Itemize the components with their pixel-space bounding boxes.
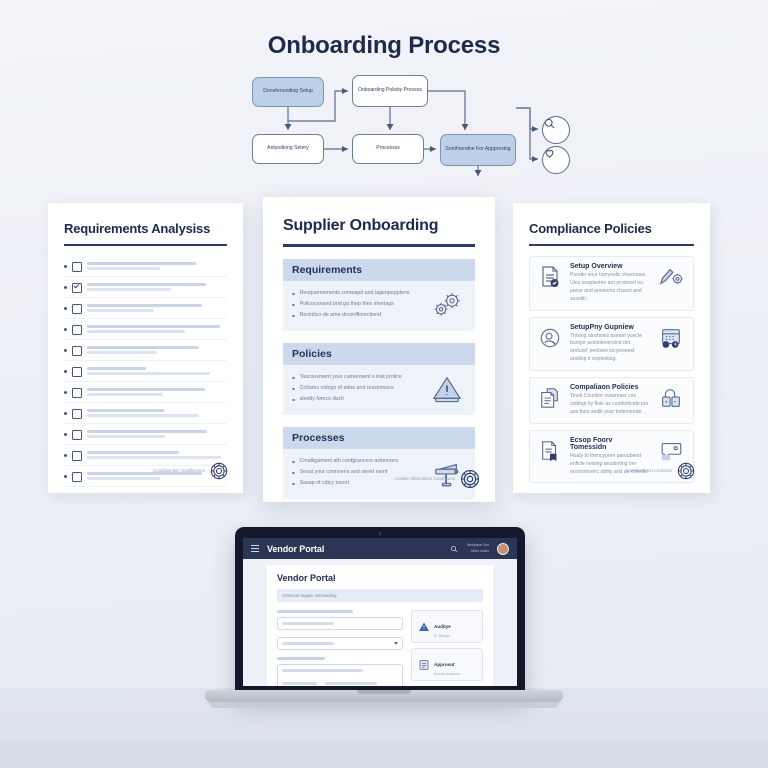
checkbox-icon[interactable]: [72, 346, 82, 356]
section-item: Recintico de ame drconfflorectiend: [292, 312, 422, 319]
section-policies-title: Policies: [283, 343, 475, 365]
section-policies: Policies Tascouvment your camerment s in…: [283, 343, 475, 415]
field-label: [277, 610, 353, 613]
bullet-icon: [292, 461, 295, 464]
user-role: Mia's suobs: [471, 549, 489, 553]
bullet-icon: [292, 377, 295, 380]
checkbox-icon[interactable]: [72, 409, 82, 419]
laptop-screen: Vendor Portal Vinofiuson Sos Mia's suobs…: [243, 538, 517, 686]
entry-desc: Ponder sour tionyoulic cheemase. Uins se…: [570, 272, 649, 304]
portal-page: Vendor Portal Velmocet Suppie onbioardin…: [267, 565, 493, 686]
checkbox-icon[interactable]: [72, 367, 82, 377]
section-item: aledity fornco duch: [292, 396, 422, 403]
checkbox-icon[interactable]: [72, 388, 82, 398]
flow-node-2-label: Onboarding Polisity Process: [358, 87, 422, 95]
field-label: [277, 657, 325, 660]
select-input[interactable]: [277, 637, 403, 650]
bullet-icon: [292, 388, 295, 391]
bullet-icon: [292, 315, 295, 318]
checklist-row[interactable]: [64, 361, 227, 382]
checklist-row[interactable]: [64, 403, 227, 424]
page-title: Onboarding Process: [0, 32, 768, 60]
gear-seal-icon: [209, 461, 229, 481]
bullet-icon: [64, 328, 67, 331]
compliance-entry-list: Setup Overview Ponder sour tionyoulic ch…: [529, 256, 694, 483]
side-card-subtitle: 0+ Bfcelys: [434, 634, 451, 638]
bullet-icon: [64, 454, 67, 457]
documents-copy-icon: [537, 384, 563, 412]
bullet-icon: [64, 286, 67, 289]
hamburger-icon[interactable]: [251, 545, 259, 552]
seal-caption: Coantbonnton Leobsion: [625, 468, 672, 475]
textarea-input[interactable]: [277, 664, 403, 686]
avatar[interactable]: [497, 543, 509, 555]
right-card-rule: [529, 244, 694, 246]
entry-title: SetupPny Gupniew: [570, 324, 649, 331]
section-item: Tascouvment your camerment s inat prolic…: [292, 374, 422, 381]
bullet-icon: [64, 475, 67, 478]
entry-title: Compaliaon Policies: [570, 384, 649, 391]
checklist-row[interactable]: [64, 256, 227, 277]
chevron-down-icon: [394, 642, 398, 645]
center-card-rule: [283, 244, 475, 247]
flow-node-1[interactable]: Donehrounding Setup: [252, 77, 324, 107]
list-item[interactable]: SetupPny Gupniew Thising alcotionis asea…: [529, 317, 694, 372]
approval-doc-icon: [417, 658, 430, 671]
center-card-heading: Supplier Onboarding: [283, 217, 475, 235]
certification-seal: Condtitioniton Soalifinones: [153, 461, 229, 481]
section-item: Cmalligament ath confgrancers acitemonc: [292, 458, 422, 465]
text-input[interactable]: [277, 617, 403, 630]
flow-node-2[interactable]: Onboarding Polisity Process: [352, 75, 428, 107]
gear-seal-icon: [676, 461, 696, 481]
list-item[interactable]: Setup Overview Ponder sour tionyoulic ch…: [529, 256, 694, 311]
bullet-icon: [292, 483, 295, 486]
warning-triangle-icon: [428, 372, 466, 406]
user-search-icon: [537, 324, 563, 352]
seal-caption: Cositen Nbmobtien Cnalifwons: [395, 476, 455, 483]
flow-node-4[interactable]: Processss: [352, 134, 424, 164]
seal-caption: Condtitioniton Soalifinones: [153, 468, 205, 475]
search-circle-icon[interactable]: [542, 116, 570, 144]
checklist-row[interactable]: [64, 340, 227, 361]
section-requirements: Requirements Reoquemements comeapd and l…: [283, 259, 475, 331]
portal-side-cards: Auditye 0+ Bfcelys: [411, 610, 483, 686]
supplier-onboarding-card: Supplier Onboarding Requirements Reoquem…: [263, 197, 495, 502]
requirements-analysis-card: Requirements Analysiss Condtitioniton So…: [48, 203, 243, 493]
flow-node-3-label: Antyodiong Setery: [267, 145, 309, 153]
checklist-row[interactable]: [64, 277, 227, 298]
flow-node-5-label: Sonthrendne For Appproving: [445, 146, 510, 154]
left-card-rule: [64, 244, 227, 246]
section-item: Collares nidogs of edos and ressiomons: [292, 385, 422, 392]
portal-heading: Vendor Portal: [277, 573, 483, 583]
checkbox-icon[interactable]: [72, 304, 82, 314]
checklist-row[interactable]: [64, 382, 227, 403]
bullet-icon: [64, 433, 67, 436]
checkbox-icon[interactable]: [72, 262, 82, 272]
entry-desc: Thising alcotionis aseant yuecle burnjor…: [570, 333, 649, 365]
bullet-icon: [292, 399, 295, 402]
entry-title: Setup Overview: [570, 263, 649, 270]
certification-seal: Coantbonnton Leobsion: [625, 461, 696, 481]
gears-icon: [428, 288, 466, 322]
checkbox-icon[interactable]: [72, 472, 82, 482]
bullet-icon: [64, 265, 67, 268]
document-bookmark-icon: [537, 437, 563, 465]
entry-desc: Tinok Couritior ovesreser con coldngt by…: [570, 393, 649, 417]
gear-seal-icon: [459, 468, 481, 490]
right-card-heading: Compliance Policies: [529, 221, 694, 236]
pen-gear-icon: [656, 263, 686, 291]
certification-seal: Cositen Nbmobtien Cnalifwons: [395, 468, 481, 490]
side-card[interactable]: Approsut Sounre tonsuons: [411, 648, 483, 681]
checklist-row[interactable]: [64, 424, 227, 445]
section-requirements-title: Requirements: [283, 259, 475, 281]
bullet-icon: [64, 307, 67, 310]
bullet-icon: [292, 472, 295, 475]
search-icon[interactable]: [450, 540, 458, 558]
user-name: Vinofiuson Sos: [466, 543, 489, 547]
side-card-title: Approsut: [434, 662, 454, 667]
bullet-icon: [64, 349, 67, 352]
notice-banner: Velmocet Suppie onbioarding: [277, 589, 483, 602]
form-column: Gore Lemtos Fiestoe aeo ae oorolt ae nao…: [277, 610, 403, 686]
entry-title: Ecsop Foorv Tomessidn: [570, 437, 649, 451]
calendar-clock-icon: [656, 324, 686, 352]
section-processes-title: Processes: [283, 427, 475, 449]
document-check-icon: [537, 263, 563, 291]
flow-node-1-label: Donehrounding Setup: [263, 88, 313, 96]
bullet-icon: [292, 293, 295, 296]
lock-icon: [656, 384, 686, 412]
flow-node-5[interactable]: Sonthrendne For Appproving: [440, 134, 516, 166]
user-info[interactable]: Vinofiuson Sos Mia's suobs: [466, 543, 489, 553]
bullet-icon: [64, 370, 67, 373]
flow-node-3[interactable]: Antyodiong Setery: [252, 134, 324, 164]
flowchart: Donehrounding Setup Onboarding Polisity …: [240, 72, 580, 180]
left-card-heading: Requirements Analysiss: [64, 221, 227, 236]
flow-node-4-label: Processss: [376, 145, 400, 153]
app-title: Vendor Portal: [267, 544, 442, 554]
bullet-icon: [64, 412, 67, 415]
laptop-lid: Vendor Portal Vinofiuson Sos Mia's suobs…: [235, 527, 525, 695]
bullet-icon: [292, 304, 295, 307]
heart-circle-icon[interactable]: [542, 146, 570, 174]
checkbox-checked-icon[interactable]: [72, 283, 82, 293]
checklist-row[interactable]: [64, 319, 227, 340]
list-item[interactable]: Compaliaon Policies Tinok Couritior oves…: [529, 377, 694, 424]
section-item: Policoconand pnd ga thep thes sherlags: [292, 301, 422, 308]
scene: Onboarding Process: [0, 0, 768, 768]
warning-triangle-icon: [417, 620, 430, 633]
checklist-row[interactable]: [64, 298, 227, 319]
side-card-subtitle: Sounre tonsuons: [434, 672, 460, 676]
webcam-icon: [379, 532, 382, 535]
requirements-checklist: [64, 256, 227, 487]
bullet-icon: [64, 391, 67, 394]
checkbox-icon[interactable]: [72, 325, 82, 335]
checkbox-icon[interactable]: [72, 451, 82, 461]
background-floor: [0, 742, 768, 768]
side-card[interactable]: Auditye 0+ Bfcelys: [411, 610, 483, 643]
laptop-notch: [357, 690, 411, 694]
checkbox-icon[interactable]: [72, 430, 82, 440]
app-bar: Vendor Portal Vinofiuson Sos Mia's suobs: [243, 538, 517, 559]
laptop-front-edge: [209, 702, 559, 708]
laptop-mockup: Vendor Portal Vinofiuson Sos Mia's suobs…: [205, 527, 563, 712]
compliance-policies-card: Compliance Policies Setup Overview Ponde…: [513, 203, 710, 493]
section-item: Reoquemements comeapd and lagenpepplens: [292, 290, 422, 297]
side-card-title: Auditye: [434, 624, 451, 629]
